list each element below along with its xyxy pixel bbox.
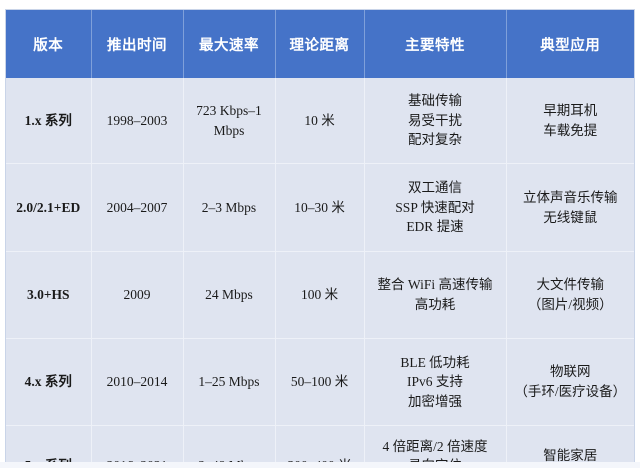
cell-max-rate: 1–25 Mbps: [183, 339, 275, 426]
cell-line: EDR 提速: [368, 217, 503, 237]
cell-line: 24 Mbps: [187, 285, 272, 305]
cell-line: SSP 快速配对: [368, 198, 503, 218]
cell-release-time: 1998–2003: [91, 78, 183, 164]
table-row: 3.0+HS 2009 24 Mbps 100 米 整合 WiFi 高速传输 高…: [6, 252, 634, 339]
cell-line: 无线键鼠: [510, 208, 632, 228]
bluetooth-version-table: 版本 推出时间 最大速率 理论距离 主要特性 典型应用 1.x 系列 1998–…: [6, 10, 634, 462]
cell-line: 高功耗: [368, 295, 503, 315]
cell-line: 早期耳机: [510, 101, 632, 121]
cell-applications: 智能家居 无损音频耳机: [506, 426, 634, 463]
page-bottom-strip: [0, 462, 640, 468]
table-row: 4.x 系列 2010–2014 1–25 Mbps 50–100 米 BLE …: [6, 339, 634, 426]
cell-applications: 立体声音乐传输 无线键鼠: [506, 164, 634, 252]
column-header-version: 版本: [6, 10, 91, 78]
cell-line: 智能家居: [510, 446, 632, 462]
cell-line: 易受干扰: [368, 111, 503, 131]
cell-line: 基础传输: [368, 91, 503, 111]
cell-max-rate: 2–3 Mbps: [183, 164, 275, 252]
cell-distance: 300–400 米: [275, 426, 364, 463]
cell-line: 723 Kbps–1: [187, 101, 272, 121]
cell-version: 4.x 系列: [6, 339, 91, 426]
cell-max-rate: 723 Kbps–1 Mbps: [183, 78, 275, 164]
table-header: 版本 推出时间 最大速率 理论距离 主要特性 典型应用: [6, 10, 634, 78]
cell-line: 整合 WiFi 高速传输: [368, 275, 503, 295]
cell-release-time: 2009: [91, 252, 183, 339]
cell-distance: 50–100 米: [275, 339, 364, 426]
cell-line: IPv6 支持: [368, 372, 503, 392]
column-header-theoretical-distance: 理论距离: [275, 10, 364, 78]
cell-features: BLE 低功耗 IPv6 支持 加密增强: [364, 339, 506, 426]
cell-line: 1–25 Mbps: [187, 372, 272, 392]
cell-max-rate: 2–48 Mbps: [183, 426, 275, 463]
cell-line: BLE 低功耗: [368, 353, 503, 373]
cell-line: 4 倍距离/2 倍速度: [368, 437, 503, 457]
cell-version: 5.x 系列: [6, 426, 91, 463]
cell-line: 2–3 Mbps: [187, 198, 272, 218]
cell-version: 1.x 系列: [6, 78, 91, 164]
cell-line: 物联网: [510, 362, 632, 382]
cell-version: 2.0/2.1+ED: [6, 164, 91, 252]
cell-line: 双工通信: [368, 178, 503, 198]
cell-line: 车载免提: [510, 121, 632, 141]
cell-distance: 100 米: [275, 252, 364, 339]
cell-release-time: 2016–2021: [91, 426, 183, 463]
cell-line: 配对复杂: [368, 130, 503, 150]
cell-line: （手环/医疗设备）: [510, 382, 632, 402]
header-row: 版本 推出时间 最大速率 理论距离 主要特性 典型应用: [6, 10, 634, 78]
document-page: 版本 推出时间 最大速率 理论距离 主要特性 典型应用 1.x 系列 1998–…: [0, 0, 640, 468]
column-header-max-rate: 最大速率: [183, 10, 275, 78]
cell-release-time: 2010–2014: [91, 339, 183, 426]
cell-line: 加密增强: [368, 392, 503, 412]
cell-applications: 早期耳机 车载免提: [506, 78, 634, 164]
cell-max-rate: 24 Mbps: [183, 252, 275, 339]
table-row: 1.x 系列 1998–2003 723 Kbps–1 Mbps 10 米 基础…: [6, 78, 634, 164]
cell-features: 基础传输 易受干扰 配对复杂: [364, 78, 506, 164]
cell-features: 双工通信 SSP 快速配对 EDR 提速: [364, 164, 506, 252]
cell-line: （图片/视频）: [510, 295, 632, 315]
cell-distance: 10 米: [275, 78, 364, 164]
cell-line: 立体声音乐传输: [510, 188, 632, 208]
table-row: 5.x 系列 2016–2021 2–48 Mbps 300–400 米 4 倍…: [6, 426, 634, 463]
cell-release-time: 2004–2007: [91, 164, 183, 252]
cell-version: 3.0+HS: [6, 252, 91, 339]
column-header-main-features: 主要特性: [364, 10, 506, 78]
cell-applications: 物联网 （手环/医疗设备）: [506, 339, 634, 426]
cell-applications: 大文件传输 （图片/视频）: [506, 252, 634, 339]
cell-features: 4 倍距离/2 倍速度 寻向定位 LE Audio: [364, 426, 506, 463]
table-body: 1.x 系列 1998–2003 723 Kbps–1 Mbps 10 米 基础…: [6, 78, 634, 462]
bluetooth-version-table-container: 版本 推出时间 最大速率 理论距离 主要特性 典型应用 1.x 系列 1998–…: [6, 10, 634, 462]
column-header-typical-applications: 典型应用: [506, 10, 634, 78]
table-row: 2.0/2.1+ED 2004–2007 2–3 Mbps 10–30 米 双工…: [6, 164, 634, 252]
cell-line: Mbps: [187, 121, 272, 141]
cell-line: 大文件传输: [510, 275, 632, 295]
column-header-release-time: 推出时间: [91, 10, 183, 78]
cell-features: 整合 WiFi 高速传输 高功耗: [364, 252, 506, 339]
cell-distance: 10–30 米: [275, 164, 364, 252]
